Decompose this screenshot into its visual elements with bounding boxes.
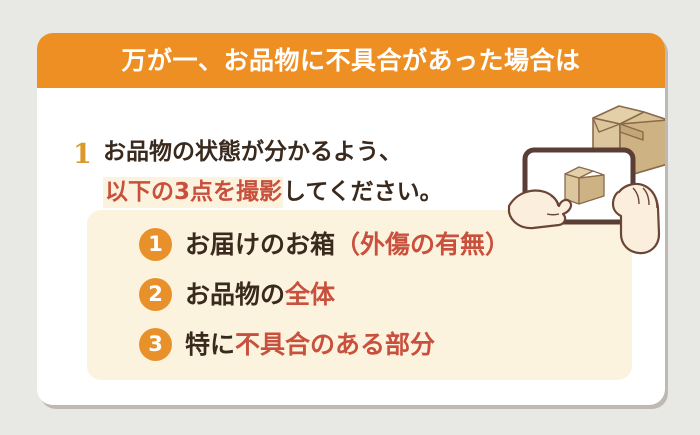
- list-badge-1: 1: [139, 228, 172, 261]
- list-item: 2 お品物の全体: [139, 274, 335, 314]
- list-item-text-dark-2: お品物の: [185, 280, 285, 309]
- list-item-text-dark-1: お届けのお箱: [185, 230, 335, 259]
- instruction-card: 万が一、お品物に不具合があった場合は 1 お品物の状態が分かるよう、 以下の3点…: [37, 33, 665, 405]
- list-badge-3: 3: [139, 328, 172, 361]
- list-item-text-red-3: 不具合のある部分: [235, 330, 435, 359]
- step-number: 1: [73, 141, 92, 168]
- card-header-bar: 万が一、お品物に不具合があった場合は: [37, 33, 665, 88]
- list-item-text-red-2: 全体: [285, 280, 335, 309]
- step-line-two: 以下の3点を撮影してください。: [103, 180, 443, 205]
- list-item: 1 お届けのお箱（外傷の有無）: [139, 224, 510, 264]
- step-line-one: お品物の状態が分かるよう、: [103, 140, 402, 165]
- step-tail-text: してください。: [283, 179, 443, 205]
- photo-checklist-panel: 1 お届けのお箱（外傷の有無） 2 お品物の全体 3 特に不具合のある部分: [87, 210, 632, 380]
- list-item-text-dark-3: 特に: [185, 330, 235, 359]
- list-item-text-red-1: （外傷の有無）: [335, 230, 510, 259]
- list-item-text-3: 特に不具合のある部分: [185, 332, 435, 357]
- step-highlight-text: 以下の3点を撮影: [103, 177, 283, 208]
- step-one-block: 1 お品物の状態が分かるよう、 以下の3点を撮影してください。: [37, 88, 665, 210]
- list-badge-2: 2: [139, 278, 172, 311]
- list-item: 3 特に不具合のある部分: [139, 324, 435, 364]
- list-item-text-2: お品物の全体: [185, 282, 335, 307]
- list-item-text-1: お届けのお箱（外傷の有無）: [185, 232, 510, 257]
- header-title: 万が一、お品物に不具合があった場合は: [121, 48, 580, 73]
